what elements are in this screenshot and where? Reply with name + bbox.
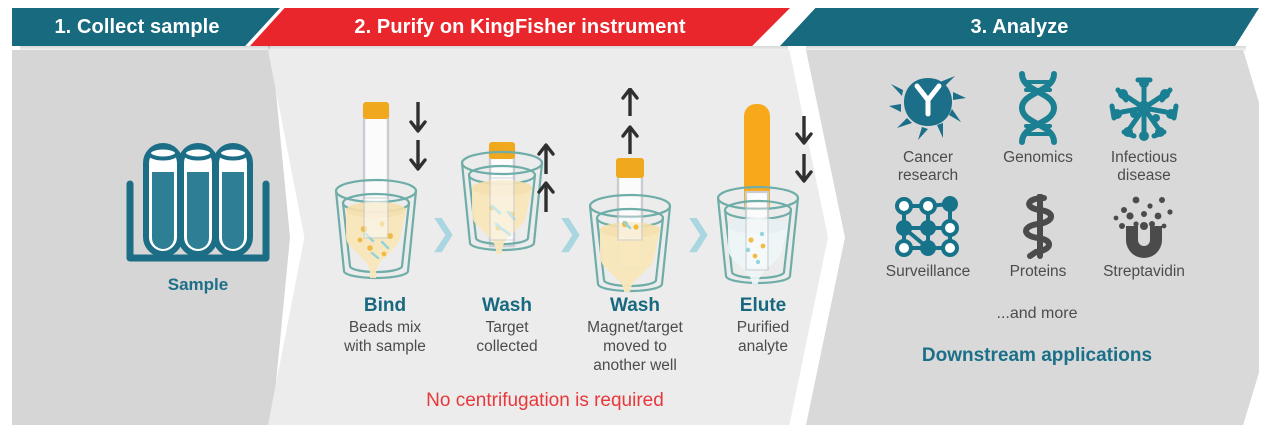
application-label: Cancer research	[872, 149, 984, 185]
application-cancer-research: Cancer research	[872, 68, 984, 185]
application-label: Streptavidin	[1088, 263, 1200, 281]
application-proteins: Proteins	[982, 190, 1094, 281]
application-surveillance: Surveillance	[872, 190, 984, 281]
chevron-right-icon: ❯	[684, 216, 713, 250]
tip-descending-into-well-icon	[320, 88, 450, 293]
and-more-text: ...and more	[872, 305, 1202, 323]
step-header-3: 3. Analyze	[780, 8, 1259, 46]
magnet-particles-icon	[1088, 190, 1200, 260]
step-header-2: 2. Purify on KingFisher instrument	[250, 8, 790, 46]
step-header-3-label: 3. Analyze	[970, 16, 1068, 39]
application-streptavidin: Streptavidin	[1088, 190, 1200, 281]
magnet-rod-into-well-icon	[698, 88, 828, 293]
no-centrifugation-note: No centrifugation is required	[330, 390, 760, 412]
arrow-down-icon	[411, 102, 425, 169]
virus-icon	[1088, 68, 1200, 146]
step-title: Wash	[570, 295, 700, 317]
downstream-applications-label: Downstream applications	[852, 345, 1222, 367]
step-desc: Beads mix with sample	[320, 318, 450, 356]
application-infectious-disease: Infectious disease	[1088, 68, 1200, 185]
sample-caption: Sample	[118, 275, 278, 295]
application-label: Surveillance	[872, 263, 984, 281]
arrow-down-icon	[797, 116, 811, 181]
application-label: Infectious disease	[1088, 149, 1200, 185]
arrow-up-icon	[623, 89, 637, 154]
purify-step-wash-1: Wash Target collected	[442, 88, 572, 356]
protein-helix-icon	[982, 190, 1094, 260]
step-header-2-label: 2. Purify on KingFisher instrument	[354, 16, 685, 39]
tip-in-well-icon	[442, 88, 572, 293]
step-title: Wash	[442, 295, 572, 317]
application-genomics: Genomics	[982, 68, 1094, 167]
step-header-1: 1. Collect sample	[12, 8, 280, 46]
chevron-right-icon: ❯	[429, 216, 458, 250]
application-label: Proteins	[982, 263, 1094, 281]
purify-step-wash-2: Wash Magnet/target moved to another well	[570, 88, 700, 375]
chevron-right-icon: ❯	[556, 216, 585, 250]
sample-group: Sample	[118, 140, 278, 295]
step-desc: Magnet/target moved to another well	[570, 318, 700, 375]
step-desc: Target collected	[442, 318, 572, 356]
network-nodes-icon	[872, 190, 984, 260]
dna-helix-icon	[982, 68, 1094, 146]
tip-lifting-out-of-well-icon	[570, 88, 700, 293]
purify-step-elute: Elute Purified analyte	[698, 88, 828, 356]
step-title: Bind	[320, 295, 450, 317]
test-tube-rack-icon	[118, 140, 278, 275]
step-desc: Purified analyte	[698, 318, 828, 356]
application-label: Genomics	[982, 149, 1094, 167]
step-title: Elute	[698, 295, 828, 317]
step-header-1-label: 1. Collect sample	[54, 16, 219, 39]
cancer-cell-antibody-icon	[872, 68, 984, 146]
